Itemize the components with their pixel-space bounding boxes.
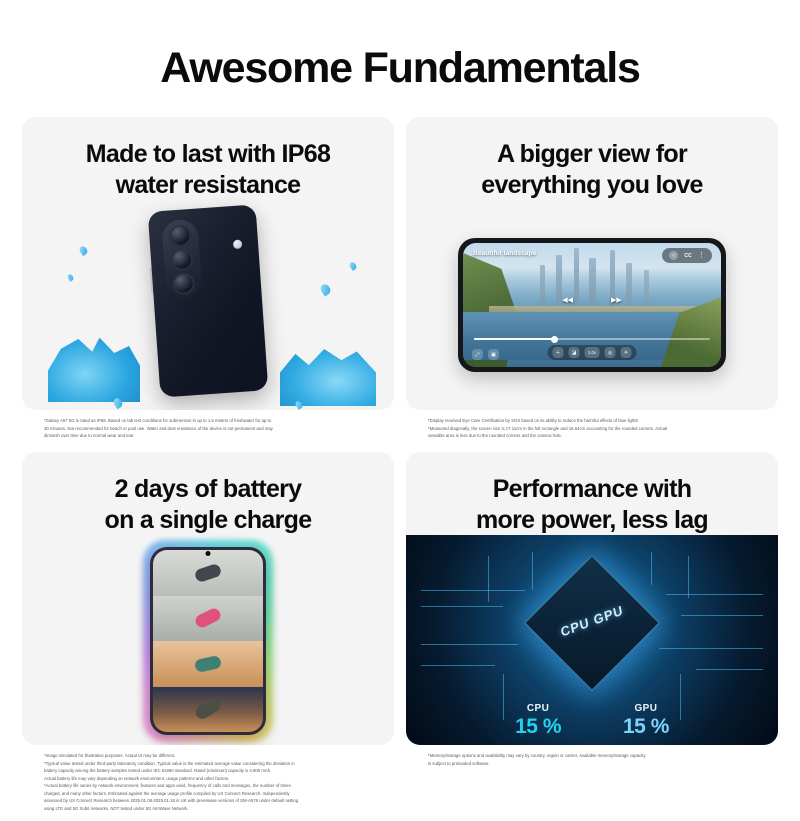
stat-label-gpu: GPU: [623, 703, 669, 714]
feature-cell-durability: Made to last with IP68 water resistance: [22, 117, 394, 452]
footnote-line: *Measured diagonally, the screen size is…: [428, 425, 760, 433]
feature-cell-performance: Performance with more power, less lag: [406, 452, 778, 821]
camera-island: [161, 219, 202, 299]
skyline-building: [556, 255, 562, 312]
card-title-battery: 2 days of battery on a single charge: [91, 452, 326, 535]
dancer-figure: [193, 697, 222, 721]
stat-label-cpu: CPU: [515, 703, 561, 714]
card-title-line1: A bigger view for: [497, 140, 687, 168]
marketing-page: Awesome Fundamentals Made to last with I…: [0, 0, 800, 800]
feature-card-performance: Performance with more power, less lag: [406, 452, 778, 745]
water-splash-right: [280, 344, 376, 406]
circuit-trace: [681, 615, 763, 616]
footnote-line: 30 minutes. Not recommended for beach or…: [44, 425, 376, 433]
skyline-building: [589, 258, 596, 313]
circuit-board-scene: CPU GPU CPU 15 % GPU 15 %: [406, 535, 778, 745]
page-title: Awesome Fundamentals: [0, 0, 800, 93]
water-droplet-icon: [348, 261, 358, 271]
card-title-durability: Made to last with IP68 water resistance: [72, 117, 344, 200]
footnote-line: *Actual battery life varies by network e…: [44, 782, 376, 790]
video-bottom-left-controls: ⤢ ▣: [472, 349, 499, 360]
circuit-trace: [488, 556, 489, 602]
video-bottom-center-controls: ＋ ◪ 1.0x ◎ ☀: [548, 345, 637, 360]
kebab-menu-icon[interactable]: ⋮: [698, 253, 705, 258]
stat-value-gpu: 15 %: [623, 715, 669, 739]
footnote-line: *Image simulated for illustrative purpos…: [44, 752, 376, 760]
circuit-trace: [421, 606, 503, 607]
cc-button[interactable]: CC: [684, 253, 692, 259]
footnote-line: is subject to preloaded software.: [428, 760, 760, 768]
footnote-line: battery capacity among the battery sampl…: [44, 767, 376, 775]
fullscreen-icon[interactable]: ⤢: [472, 349, 483, 360]
camera-lens-icon: [170, 248, 193, 271]
dancer-figure: [194, 563, 223, 583]
footnote-battery: *Image simulated for illustrative purpos…: [22, 745, 394, 821]
circuit-trace: [666, 594, 763, 595]
water-splash-left: [48, 332, 140, 402]
footnote-line: charged, and many other factors. Estimat…: [44, 790, 376, 798]
video-title-overlay: Beautiful landscape: [473, 250, 536, 257]
circuit-trace: [421, 644, 518, 645]
feature-card-durability: Made to last with IP68 water resistance: [22, 117, 394, 410]
durability-media: [22, 200, 394, 410]
video-seek-bar[interactable]: [474, 338, 710, 340]
card-title-performance: Performance with more power, less lag: [462, 452, 722, 535]
seek-progress: [474, 338, 554, 340]
dancer-figure: [194, 655, 222, 673]
footnote-durability: *Galaxy A57 5G is rated as IP68. Based o…: [22, 410, 394, 452]
gallery-photo[interactable]: [153, 687, 263, 733]
seek-handle[interactable]: [551, 336, 558, 343]
footnote-line: viewable area is less due to the rounded…: [428, 432, 760, 440]
footnote-line: using LTE and 5G Sub6 networks. NOT test…: [44, 805, 376, 813]
pip-icon[interactable]: ▣: [488, 349, 499, 360]
card-title-line2: water resistance: [116, 171, 301, 199]
speed-button[interactable]: 1.0x: [585, 347, 600, 358]
camera-lens-icon: [169, 224, 192, 247]
circuit-trace: [696, 669, 763, 670]
footnote-line: assessed by UX Connect Research between …: [44, 797, 376, 805]
rewind-icon[interactable]: ◀◀: [562, 296, 573, 304]
performance-media: CPU GPU CPU 15 % GPU 15 %: [406, 535, 778, 745]
footnote-line: *Memory/storage options and availability…: [428, 752, 760, 760]
gallery-photo[interactable]: [153, 550, 263, 596]
feature-cell-battery: 2 days of battery on a single charge: [22, 452, 394, 821]
display-media: Beautiful landscape ≈ CC ⋮ ◀◀ ▶▶: [406, 200, 778, 410]
card-title-line2: on a single charge: [105, 506, 312, 534]
filter-icon[interactable]: ◎: [605, 347, 616, 358]
gallery-photo[interactable]: [153, 596, 263, 642]
card-title-display: A bigger view for everything you love: [467, 117, 717, 200]
skyline-building: [626, 263, 632, 313]
circuit-trace: [532, 552, 533, 590]
feature-card-battery: 2 days of battery on a single charge: [22, 452, 394, 745]
card-title-line1: 2 days of battery: [115, 475, 302, 503]
circuit-trace: [688, 556, 689, 598]
feature-card-display: A bigger view for everything you love: [406, 117, 778, 410]
card-title-line1: Performance with: [493, 475, 692, 503]
footnote-line: *Galaxy A57 5G is rated as IP68. Based o…: [44, 417, 376, 425]
circuit-trace: [421, 590, 525, 591]
video-player-screen: Beautiful landscape ≈ CC ⋮ ◀◀ ▶▶: [463, 243, 721, 367]
footnote-line: diminish over time due to normal wear an…: [44, 432, 376, 440]
phone-glow-wrapper: [150, 547, 266, 735]
phone-rear-image: [148, 204, 269, 397]
feature-grid: Made to last with IP68 water resistance: [0, 117, 800, 821]
stat-gpu: GPU 15 %: [623, 703, 669, 739]
side-button: [150, 268, 155, 294]
stat-cpu: CPU 15 %: [515, 703, 561, 739]
gallery-photo[interactable]: [153, 641, 263, 687]
equalizer-icon[interactable]: ≈: [669, 251, 678, 260]
card-title-line1: Made to last with IP68: [86, 140, 330, 168]
water-droplet-icon: [319, 282, 333, 296]
footnote-performance: *Memory/storage options and availability…: [406, 745, 778, 787]
add-icon[interactable]: ＋: [553, 347, 564, 358]
water-droplet-icon: [66, 273, 74, 282]
footnote-line: Actual battery life may vary depending o…: [44, 775, 376, 783]
battery-media: [22, 535, 394, 745]
water-splash-scene: [22, 200, 394, 410]
front-camera-icon: [206, 551, 211, 556]
water-droplet-icon: [78, 245, 89, 256]
card-title-line2: more power, less lag: [476, 506, 708, 534]
crop-icon[interactable]: ◪: [569, 347, 580, 358]
forward-icon[interactable]: ▶▶: [611, 296, 622, 304]
footnote-line: *Display received Eye Care Certification…: [428, 417, 760, 425]
performance-stats: CPU 15 % GPU 15 %: [406, 703, 778, 739]
dancer-figure: [193, 607, 222, 630]
playback-markers: ◀◀ ▶▶: [562, 296, 622, 304]
brightness-icon[interactable]: ☀: [621, 347, 632, 358]
circuit-trace: [421, 665, 495, 666]
circuit-trace: [651, 552, 652, 586]
footnote-line: *Typical value tested under third-party …: [44, 760, 376, 768]
footnote-display: *Display received Eye Care Certification…: [406, 410, 778, 452]
video-top-controls[interactable]: ≈ CC ⋮: [662, 248, 712, 263]
phone-front-frame: [150, 547, 266, 735]
camera-lens-icon: [172, 272, 195, 295]
stat-value-cpu: 15 %: [515, 715, 561, 739]
circuit-trace: [659, 648, 763, 649]
gallery-screen: [153, 550, 263, 732]
card-title-line2: everything you love: [481, 171, 703, 199]
phone-landscape-frame: Beautiful landscape ≈ CC ⋮ ◀◀ ▶▶: [458, 238, 726, 372]
feature-cell-display: A bigger view for everything you love: [406, 117, 778, 452]
